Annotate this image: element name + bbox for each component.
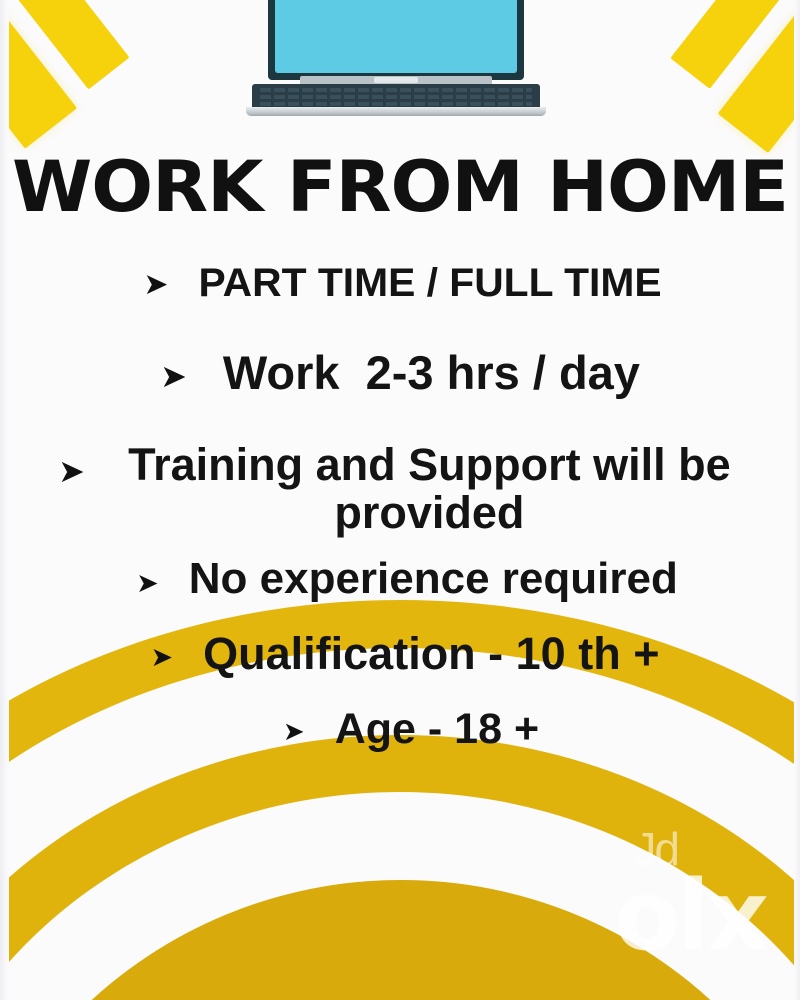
arrow-bullet-icon: ➤ [160,360,187,392]
list-item-label: Training and Support will be provided [117,441,742,536]
list-item-label: Age - 18 + [335,707,539,752]
watermark-olx-logo: olx [614,868,766,964]
list-item-label: No experience required [189,556,678,602]
list-item-label: Work 2-3 hrs / day [223,348,640,397]
list-item: ➤ PART TIME / FULL TIME [0,262,800,304]
arrow-bullet-icon: ➤ [143,270,168,300]
watermark-sub-label: · · · · [707,958,752,970]
benefits-list: ➤ PART TIME / FULL TIME ➤ Work 2-3 hrs /… [0,262,800,752]
arrow-bullet-icon: ➤ [283,719,305,745]
arrow-bullet-icon: ➤ [151,644,174,671]
arrow-bullet-icon: ➤ [136,570,159,597]
list-item: ➤ Age - 18 + [0,707,800,752]
list-item-label: PART TIME / FULL TIME [198,262,661,304]
list-item: ➤ Qualification - 10 th + [0,630,800,677]
list-item: ➤ No experience required [0,556,800,602]
arrow-bullet-icon: ➤ [58,455,85,487]
list-item: ➤ Work 2-3 hrs / day [0,348,800,397]
poster-content: WORK FROM HOME ➤ PART TIME / FULL TIME ➤… [0,0,800,1000]
work-from-home-poster: WORK FROM HOME ➤ PART TIME / FULL TIME ➤… [0,0,800,1000]
list-item: ➤ Training and Support will be provided [0,441,800,536]
list-item-label: Qualification - 10 th + [203,630,659,677]
poster-title: WORK FROM HOME [0,146,800,228]
